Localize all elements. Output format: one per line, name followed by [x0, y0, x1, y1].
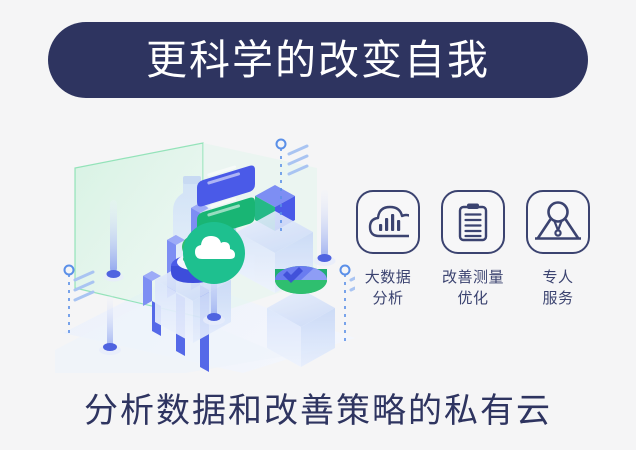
- pie-chart-3d: [275, 266, 327, 294]
- feature-label: 专人 服务: [542, 268, 573, 309]
- dotted-connector-line-left: [65, 266, 74, 335]
- feature-item-big-data-analysis[interactable]: 大数据 分析: [352, 190, 424, 309]
- bottom-headline: 分析数据和改善策略的私有云: [0, 383, 636, 432]
- clipboard-badge: [441, 190, 505, 254]
- cloud-bar-chart-icon: [367, 205, 409, 239]
- dotted-connector-line-right: [341, 266, 350, 343]
- support-agent-icon: [535, 200, 581, 244]
- clipboard-icon: [456, 202, 490, 242]
- isometric-data-platform-illustration: [55, 128, 355, 373]
- feature-label: 改善测量 优化: [442, 268, 504, 309]
- feature-label-line2: 服务: [542, 289, 573, 310]
- feature-label-line1: 大数据: [365, 268, 412, 289]
- feature-item-measurement-optimization[interactable]: 改善测量 优化: [437, 190, 509, 309]
- page-title: 更科学的改变自我: [146, 40, 490, 81]
- feature-item-dedicated-service[interactable]: 专人 服务: [522, 190, 594, 309]
- title-banner: 更科学的改变自我: [48, 22, 588, 98]
- support-agent-badge: [526, 190, 590, 254]
- cloud-bar-chart-badge: [356, 190, 420, 254]
- feature-label-line1: 专人: [542, 268, 573, 289]
- feature-label: 大数据 分析: [365, 268, 412, 309]
- poster-canvas: 更科学的改变自我: [0, 0, 636, 450]
- feature-list: 大数据 分析 改善测量: [352, 190, 594, 335]
- feature-label-line2: 优化: [442, 289, 504, 310]
- feature-label-line1: 改善测量: [442, 268, 504, 289]
- feature-label-line2: 分析: [365, 289, 412, 310]
